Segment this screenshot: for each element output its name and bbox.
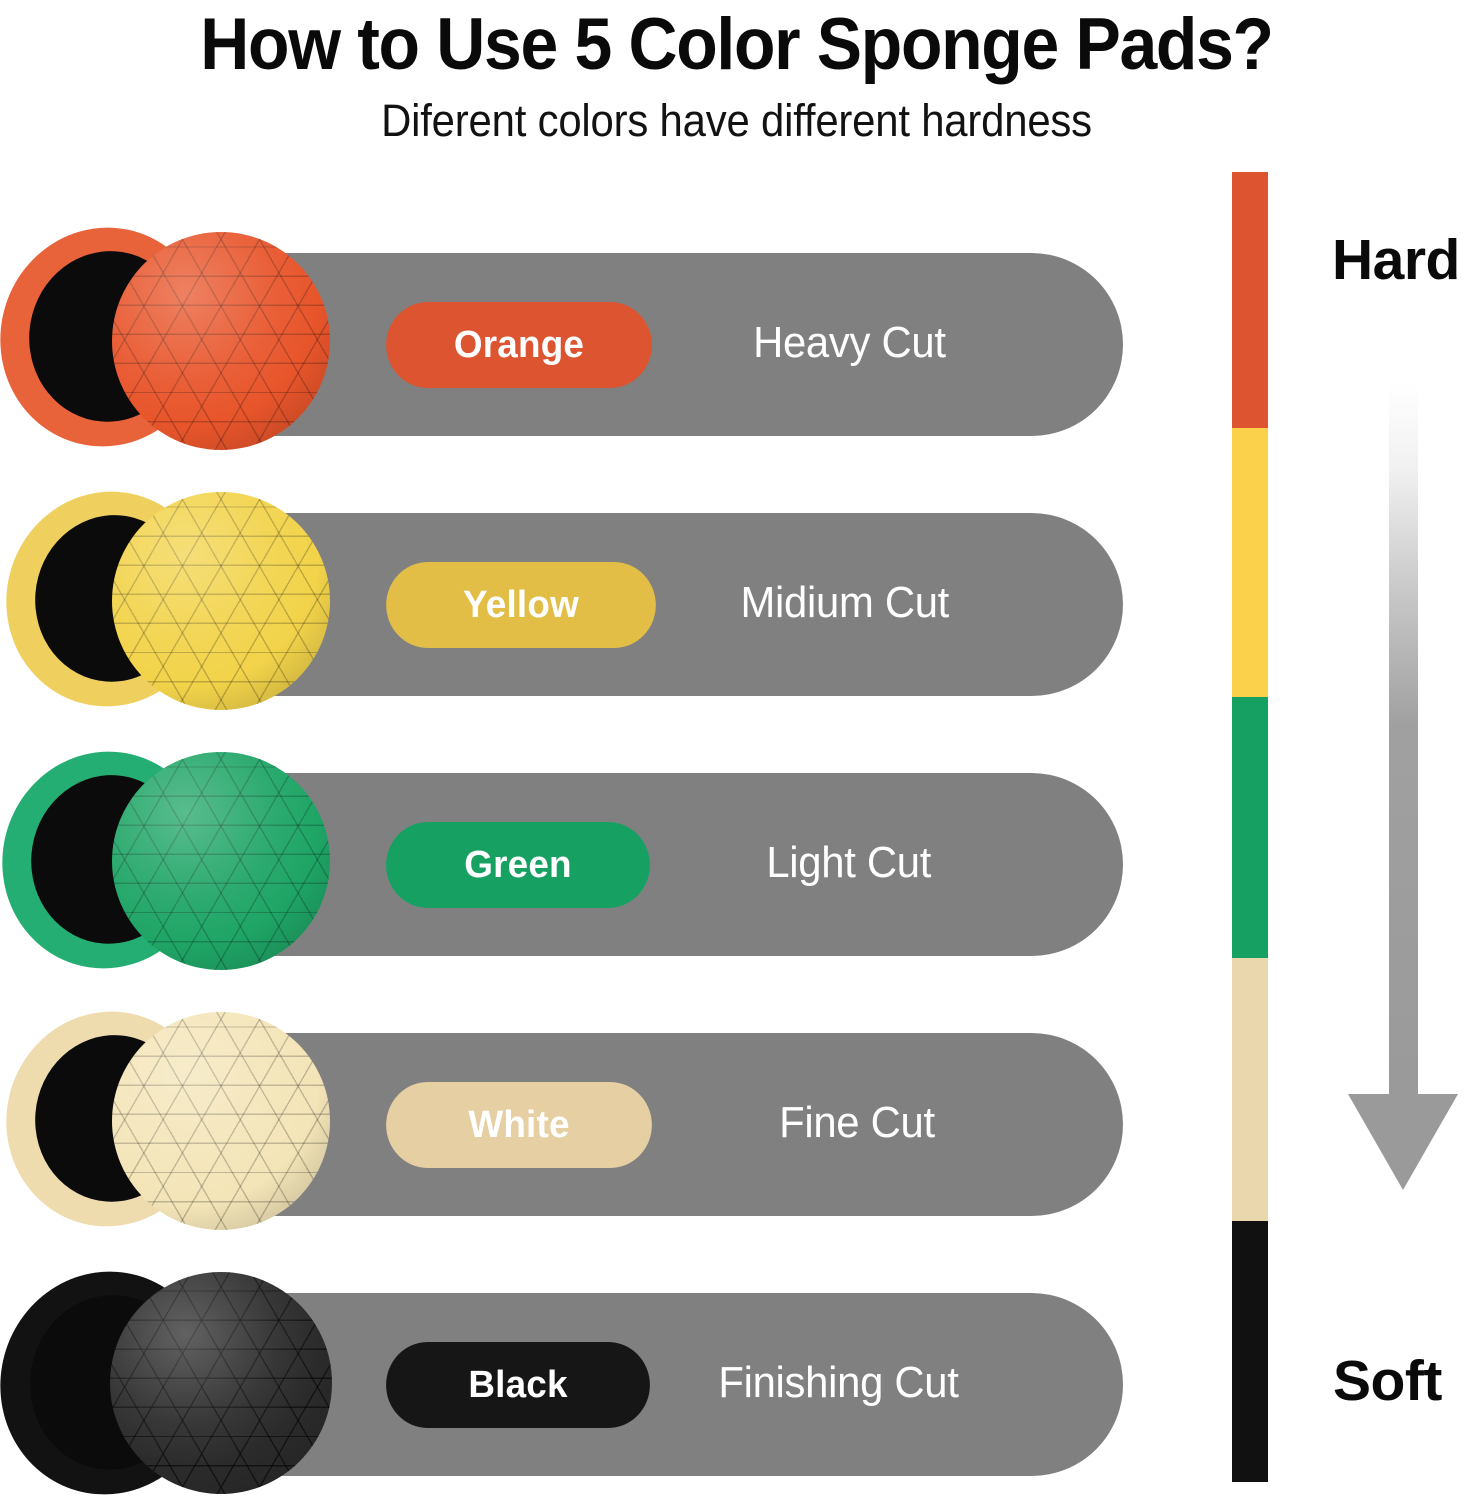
color-pill-green[interactable]: Green [386, 822, 650, 908]
hardness-arrow-shaft [1389, 383, 1418, 1098]
white-segment [1232, 958, 1268, 1221]
cut-type-label: Heavy Cut [753, 318, 946, 368]
sponge-pad-shading [110, 1272, 332, 1494]
cut-type-label: Light Cut [766, 838, 931, 888]
sponge-pad-face [112, 1012, 330, 1230]
color-pill-label: Yellow [463, 584, 579, 627]
hardness-label-hard: Hard [1332, 227, 1460, 293]
sponge-pad-shading [112, 232, 330, 450]
hardness-arrow-head-icon [1348, 1094, 1458, 1190]
color-pill-label: Black [468, 1364, 567, 1407]
yellow-segment [1232, 428, 1268, 697]
page-title: How to Use 5 Color Sponge Pads? [52, 6, 1422, 85]
hardness-label-soft: Soft [1333, 1348, 1442, 1414]
color-pill-white[interactable]: White [386, 1082, 652, 1168]
color-pill-label: Green [464, 844, 572, 887]
color-pill-label: White [468, 1104, 569, 1147]
sponge-pad-face [112, 232, 330, 450]
black-segment [1232, 1221, 1268, 1482]
orange-segment [1232, 172, 1268, 428]
sponge-pad-face [110, 1272, 332, 1494]
color-pill-yellow[interactable]: Yellow [386, 562, 656, 648]
cut-type-label: Fine Cut [779, 1098, 935, 1148]
sponge-pad-shading [112, 492, 330, 710]
infographic-page: How to Use 5 Color Sponge Pads? Diferent… [0, 0, 1473, 1500]
cut-type-label: Finishing Cut [718, 1358, 958, 1408]
color-pill-black[interactable]: Black [386, 1342, 650, 1428]
sponge-pad-shading [112, 1012, 330, 1230]
cut-type-label: Midium Cut [740, 578, 949, 628]
page-subtitle: Diferent colors have different hardness [52, 95, 1422, 147]
hardness-scale-bar [1232, 172, 1268, 1482]
sponge-pad-face [112, 752, 330, 970]
green-segment [1232, 697, 1268, 958]
color-pill-label: Orange [454, 324, 584, 367]
sponge-pad-shading [112, 752, 330, 970]
color-pill-orange[interactable]: Orange [386, 302, 652, 388]
sponge-pad-face [112, 492, 330, 710]
